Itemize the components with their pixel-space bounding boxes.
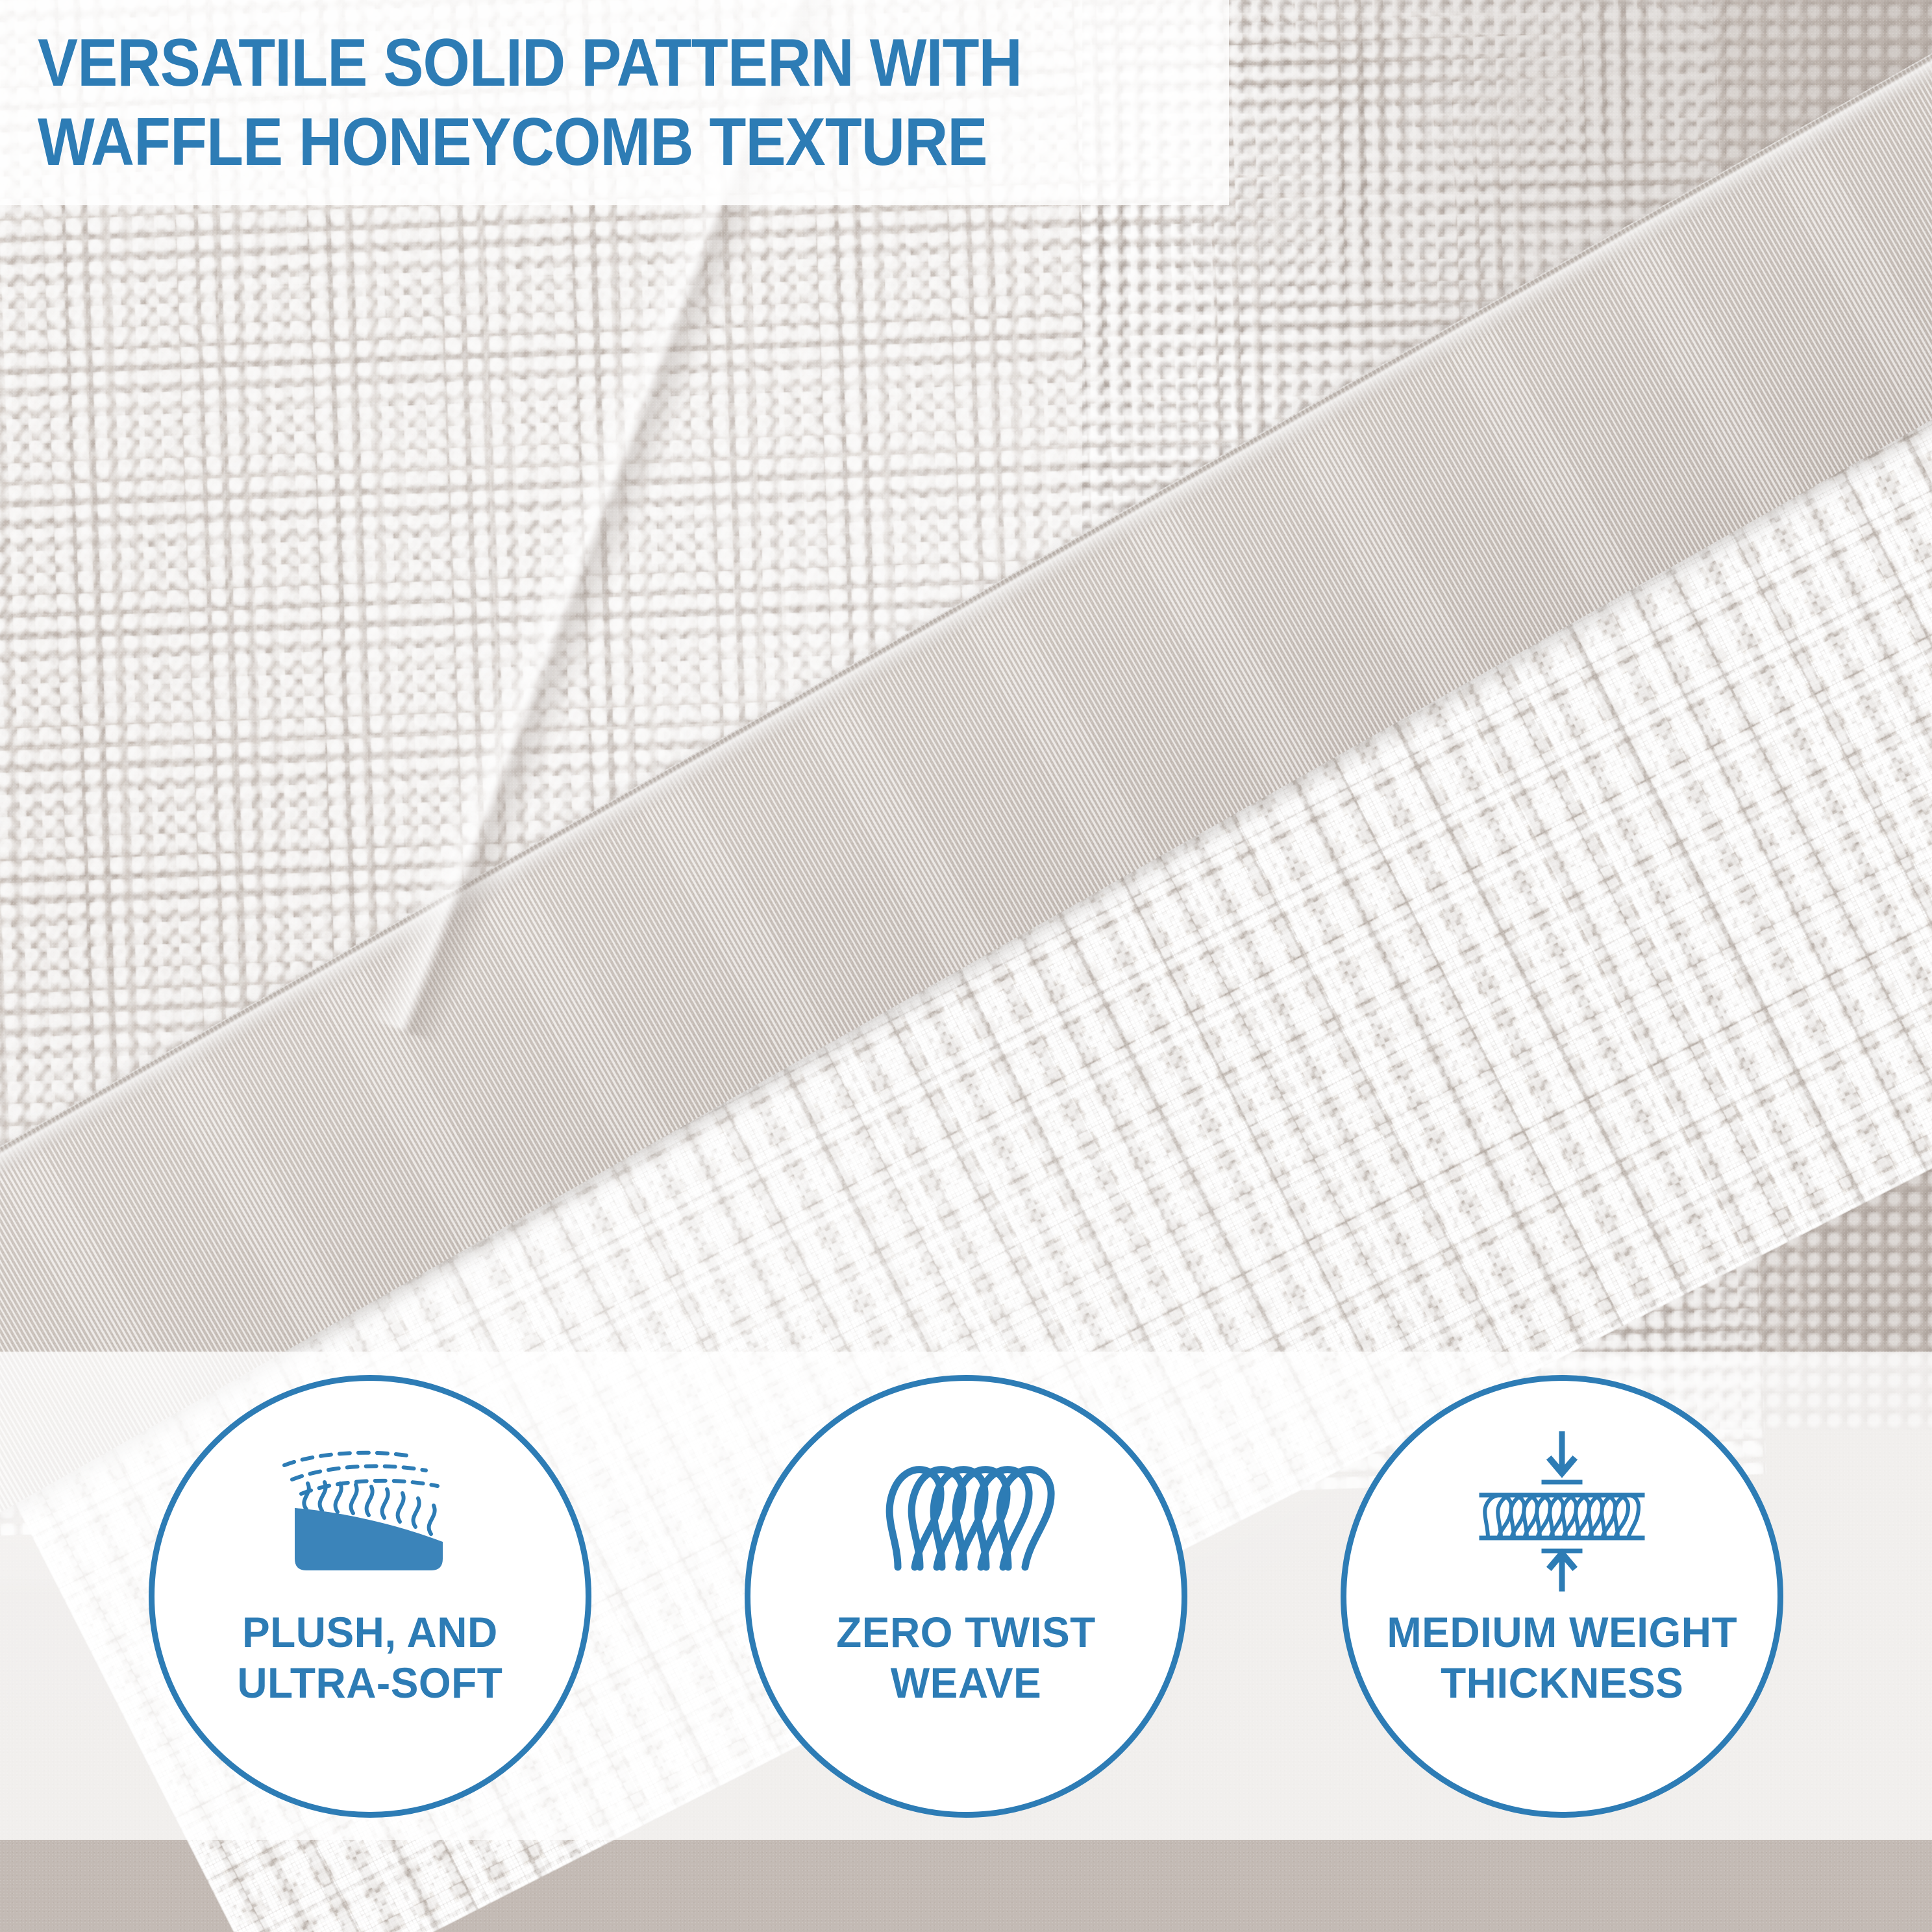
feature-badge-plush-label: PLUSH, AND ULTRA-SOFT — [237, 1607, 502, 1708]
thickness-label-line-1: MEDIUM WEIGHT — [1387, 1607, 1737, 1657]
zero-twist-loops-icon — [872, 1428, 1060, 1595]
feature-badge-thickness-label: MEDIUM WEIGHT THICKNESS — [1387, 1607, 1737, 1708]
feature-badge-plush[interactable]: PLUSH, AND ULTRA-SOFT — [149, 1375, 591, 1818]
feature-badge-zero-twist[interactable]: ZERO TWIST WEAVE — [745, 1375, 1187, 1818]
headline-banner: VERSATILE SOLID PATTERN WITH WAFFLE HONE… — [0, 0, 1229, 205]
zero-twist-label-line-1: ZERO TWIST — [836, 1607, 1096, 1657]
headline-line-1: VERSATILE SOLID PATTERN WITH — [38, 23, 1104, 103]
feature-badge-thickness[interactable]: MEDIUM WEIGHT THICKNESS — [1341, 1375, 1783, 1818]
feature-badge-band: PLUSH, AND ULTRA-SOFT — [0, 1352, 1932, 1840]
thickness-arrows-icon — [1458, 1428, 1666, 1595]
thickness-label-line-2: THICKNESS — [1387, 1657, 1737, 1708]
plush-label-line-1: PLUSH, AND — [237, 1607, 502, 1657]
headline-line-2: WAFFLE HONEYCOMB TEXTURE — [38, 103, 1104, 182]
product-feature-graphic: VERSATILE SOLID PATTERN WITH WAFFLE HONE… — [0, 0, 1932, 1932]
feature-badge-zero-twist-label: ZERO TWIST WEAVE — [836, 1607, 1096, 1708]
plush-pile-icon — [273, 1428, 467, 1595]
feature-badge-list: PLUSH, AND ULTRA-SOFT — [0, 1352, 1932, 1840]
plush-label-line-2: ULTRA-SOFT — [237, 1657, 502, 1708]
zero-twist-label-line-2: WEAVE — [836, 1657, 1096, 1708]
